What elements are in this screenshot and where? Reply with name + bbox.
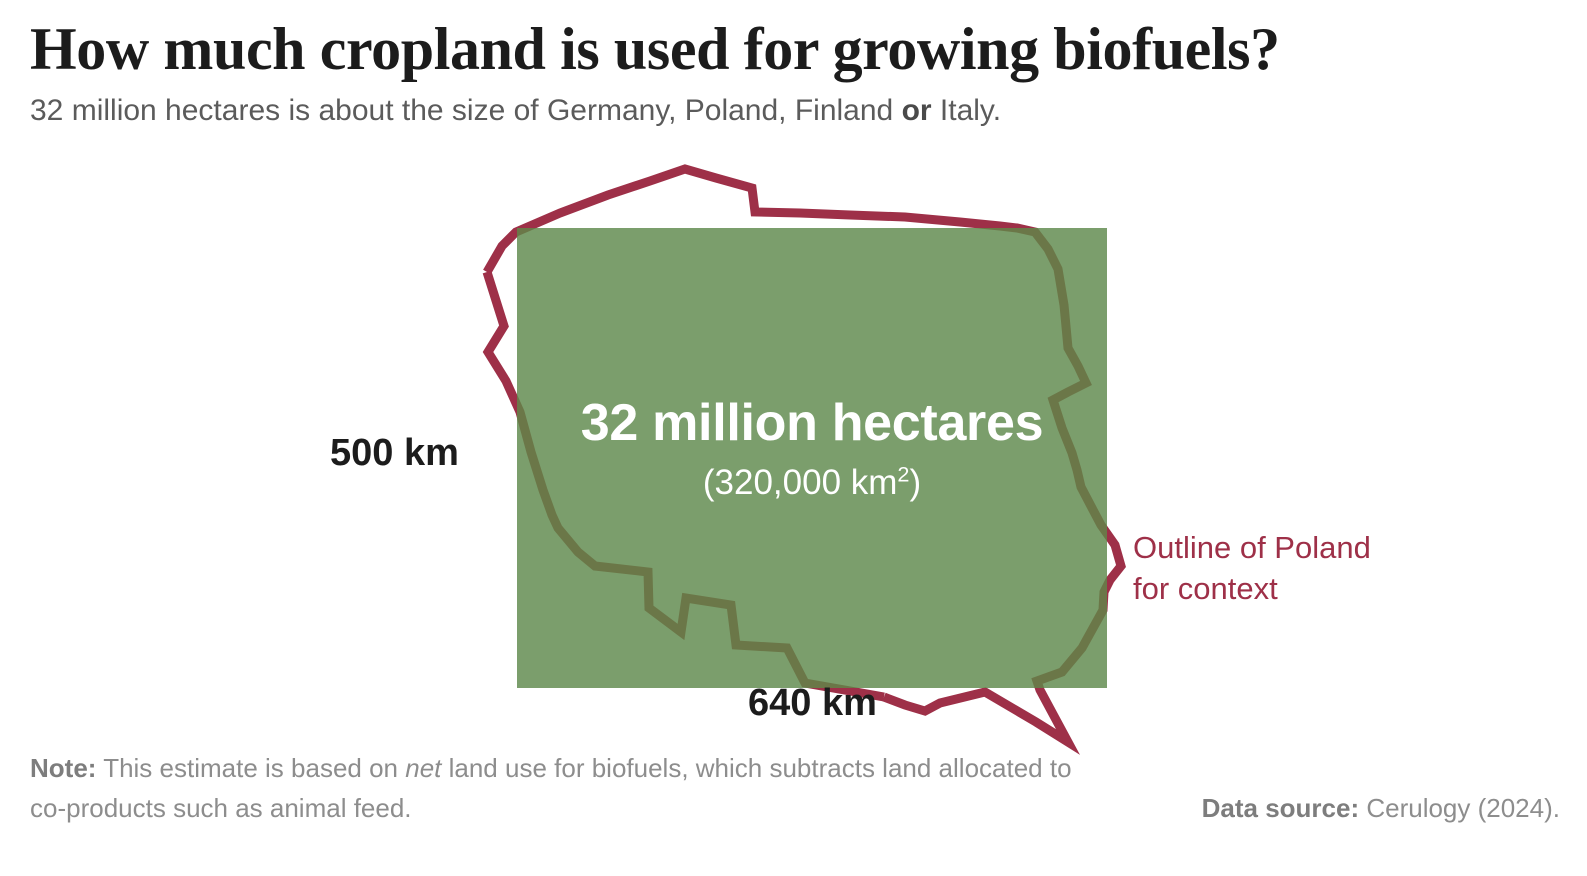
footer-note-text-1: This estimate is based on xyxy=(96,753,405,783)
area-value-block: 32 million hectares (320,000 km2) xyxy=(517,395,1107,504)
area-value-primary: 32 million hectares xyxy=(517,395,1107,452)
footer-note-line-2: co-products such as animal feed. Data so… xyxy=(30,788,1560,828)
footer: Note: This estimate is based on net land… xyxy=(30,748,1560,829)
footer-source: Data source: Cerulogy (2024). xyxy=(1202,788,1560,828)
area-value-secondary-prefix: (320,000 km xyxy=(703,463,898,502)
footer-note-label: Note: xyxy=(30,753,96,783)
area-value-secondary-suffix: ) xyxy=(909,463,921,502)
footer-note-line-1: Note: This estimate is based on net land… xyxy=(30,748,1560,788)
subtitle-text-before: 32 million hectares is about the size of… xyxy=(30,94,902,127)
callout-line-2: for context xyxy=(1133,569,1371,610)
footer-note-text-2: land use for biofuels, which subtracts l… xyxy=(441,753,1071,783)
footer-note-italic: net xyxy=(405,753,441,783)
footer-source-text: Cerulogy (2024). xyxy=(1359,793,1560,823)
header: How much cropland is used for growing bi… xyxy=(30,18,1560,129)
subtitle-emphasis: or xyxy=(902,94,932,127)
height-dimension-label: 500 km xyxy=(330,432,459,475)
poland-outline-callout: Outline of Poland for context xyxy=(1133,528,1371,610)
infographic-page: How much cropland is used for growing bi… xyxy=(0,0,1587,876)
subtitle-text-after: Italy. xyxy=(932,94,1001,127)
area-value-exponent: 2 xyxy=(897,462,909,487)
page-subtitle: 32 million hectares is about the size of… xyxy=(30,92,1560,130)
area-value-secondary: (320,000 km2) xyxy=(517,462,1107,504)
footer-note-text-3: co-products such as animal feed. xyxy=(30,788,412,828)
width-dimension-label: 640 km xyxy=(748,682,877,725)
callout-line-1: Outline of Poland xyxy=(1133,528,1371,569)
page-title: How much cropland is used for growing bi… xyxy=(30,18,1560,82)
footer-source-label: Data source: xyxy=(1202,793,1360,823)
